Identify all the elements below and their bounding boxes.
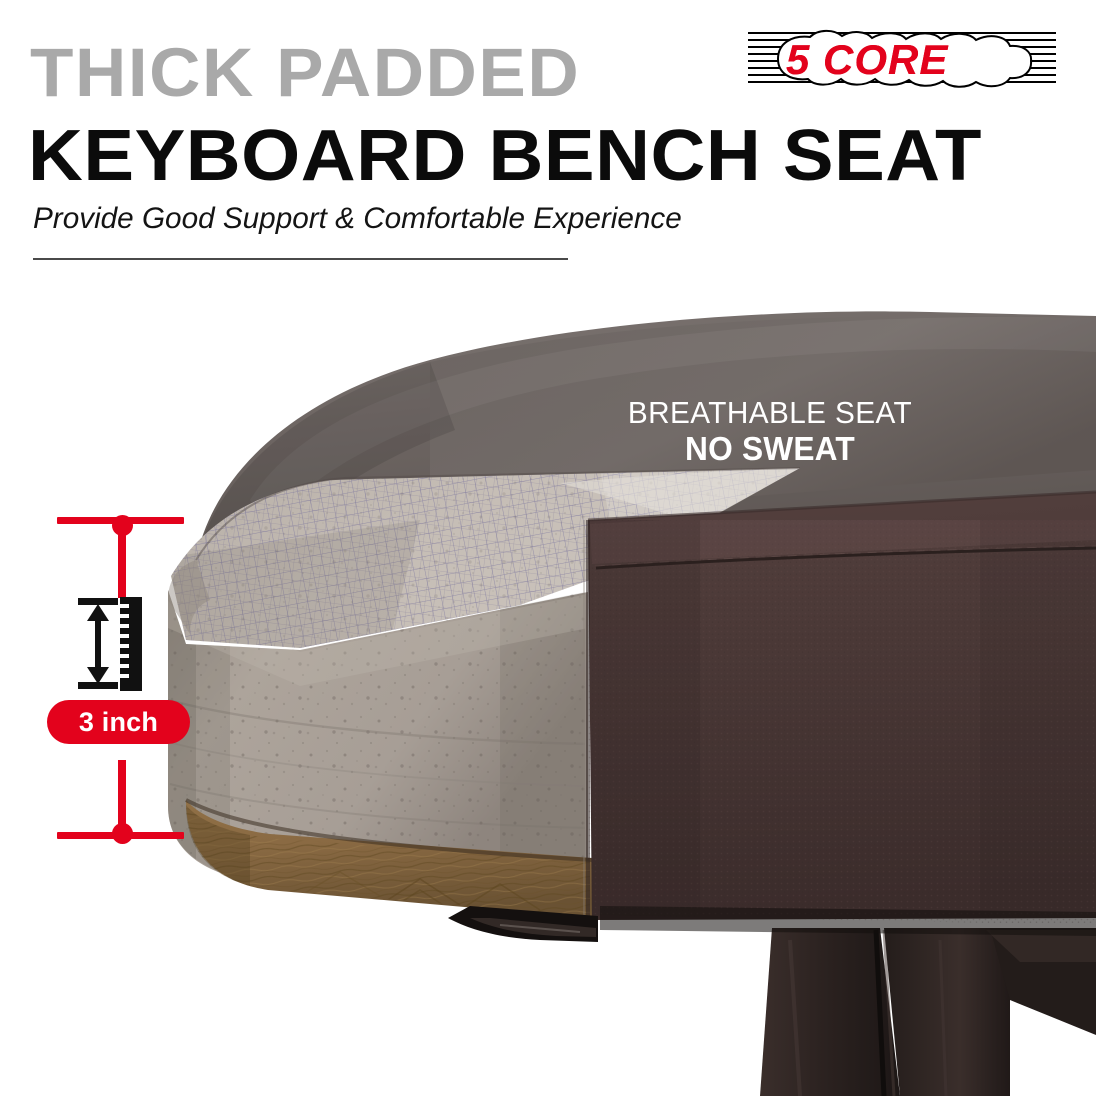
measurement-badge-label: 3 inch (79, 709, 158, 736)
eyebrow-text: THICK PADDED (30, 38, 580, 107)
measurement-top-stem (118, 522, 126, 598)
header-divider (33, 258, 568, 260)
measurement-badge: 3 inch (47, 700, 190, 744)
subtitle-text: Provide Good Support & Comfortable Exper… (33, 202, 682, 235)
page-title: KEYBOARD BENCH SEAT (28, 120, 982, 192)
measurement-bottom-stem (118, 760, 126, 832)
header-block: THICK PADDED KEYBOARD BENCH SEAT Provide… (0, 0, 1096, 290)
measurement-bottom-line (57, 832, 184, 839)
ruler-arrow-icon (74, 597, 142, 691)
product-marketing-banner: BREATHABLE SEAT NO SWEAT (0, 0, 1096, 1096)
